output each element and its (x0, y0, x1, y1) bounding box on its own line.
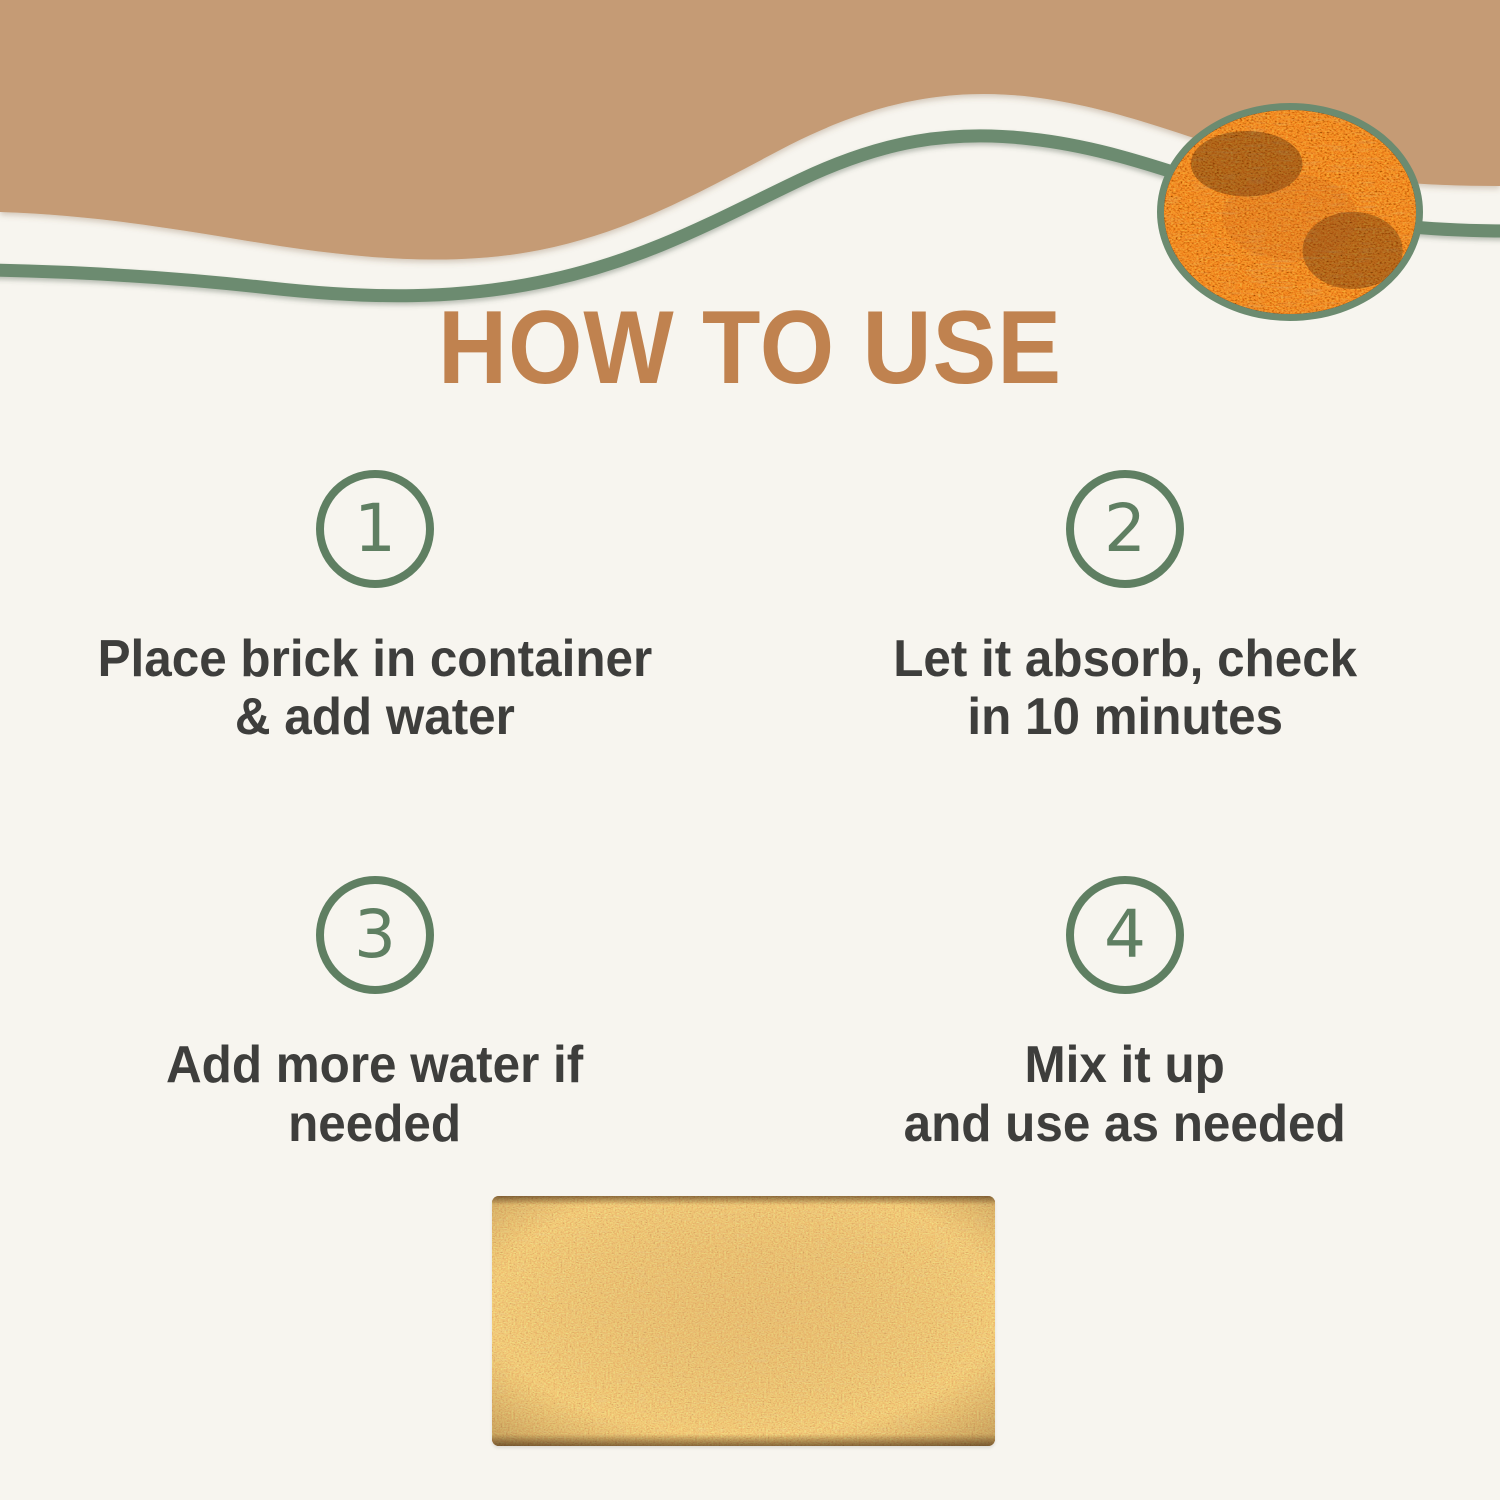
step-label-1: Place brick in container & add water (98, 630, 653, 746)
steps-row-1: 1 Place brick in container & add water 2… (0, 470, 1500, 746)
step-number-circle-1: 1 (316, 470, 434, 588)
steps-row-2: 3 Add more water if needed 4 Mix it up a… (0, 876, 1500, 1152)
step-label-2: Let it absorb, check in 10 minutes (893, 630, 1357, 746)
step-label-3: Add more water if needed (166, 1036, 583, 1152)
step-label-4: Mix it up and use as needed (904, 1036, 1346, 1152)
step-item-1: 1 Place brick in container & add water (0, 470, 750, 746)
brick-bottom-edge (492, 1434, 995, 1446)
brick-texture (492, 1196, 995, 1446)
page-title: HOW TO USE (60, 296, 1440, 400)
step-number-circle-3: 3 (316, 876, 434, 994)
step-item-4: 4 Mix it up and use as needed (750, 876, 1500, 1152)
step-item-3: 3 Add more water if needed (0, 876, 750, 1152)
step-item-2: 2 Let it absorb, check in 10 minutes (750, 470, 1500, 746)
infographic-canvas: HOW TO USE 1 Place brick in container & … (0, 0, 1500, 1500)
brick-top-edge (492, 1196, 995, 1205)
coir-texture (1160, 106, 1420, 320)
step-number-circle-4: 4 (1066, 876, 1184, 994)
step-number-circle-2: 2 (1066, 470, 1184, 588)
coir-closeup-photo (1157, 103, 1423, 321)
coco-coir-brick-image (492, 1196, 995, 1446)
steps-container: 1 Place brick in container & add water 2… (0, 470, 1500, 1153)
